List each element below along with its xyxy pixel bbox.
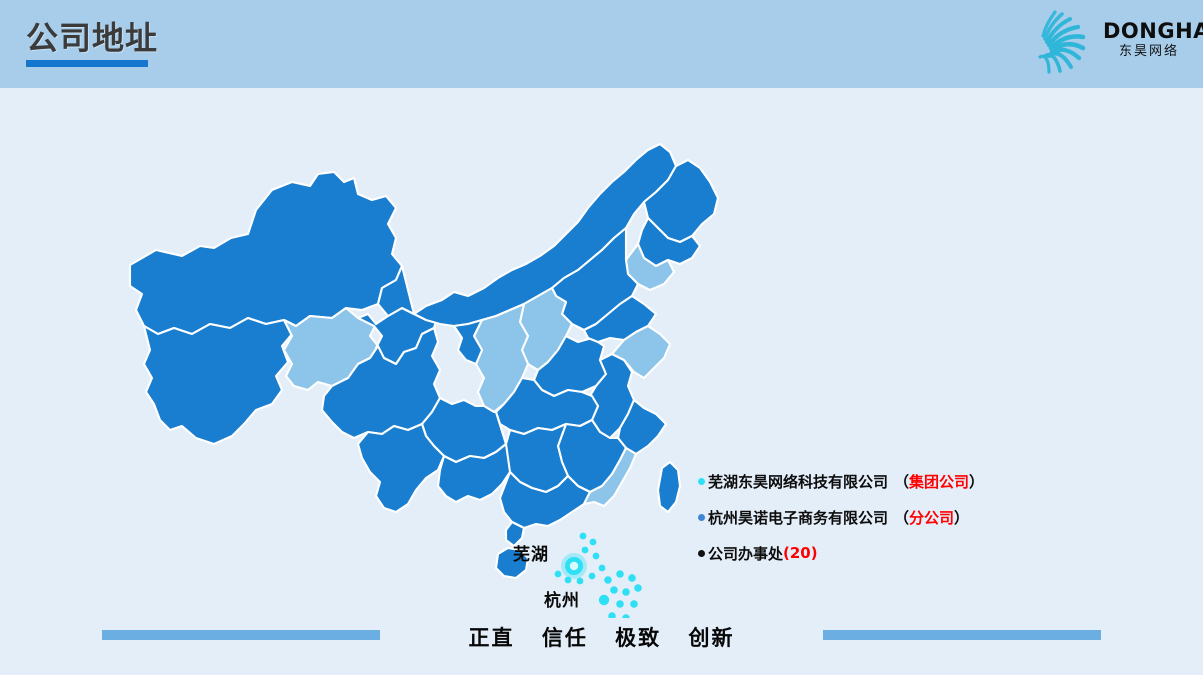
legend-item-note: (20) [783,544,818,562]
brand-name-en: DONGHAO [1103,20,1195,43]
brand-name-cn: 东昊网络 [1103,43,1195,61]
slogan-word: 信任 [542,626,588,650]
page-title-text: 公司地址 [26,18,158,58]
legend-item-offices: 公司办事处 (20) [698,535,998,571]
city-label-wuhu: 芜湖 [513,540,549,565]
legend-paren-close: ） [954,507,969,528]
legend-dot-icon [698,478,705,485]
slide-canvas: 公司地址 [0,0,1203,675]
legend-item-label: 公司办事处 [708,543,783,564]
legend-item-label: 芜湖东昊网络科技有限公司 [708,471,888,492]
legend-paren-open: （ [894,471,909,492]
slogan-word: 极致 [615,626,661,650]
slide-header: 公司地址 [0,0,1203,88]
feather-fan-icon [1027,8,1099,78]
legend-item-label: 杭州昊诺电子商务有限公司 [708,507,888,528]
legend-dot-icon [698,514,705,521]
china-map: 芜湖 杭州 [96,138,736,618]
brand-logo: DONGHAO 东昊网络 [1019,6,1195,76]
legend-item-branch-company: 杭州昊诺电子商务有限公司 （ 分公司 ） [698,499,998,535]
slogan-word: 正直 [469,626,515,650]
slogan-word: 创新 [688,626,734,650]
legend-dot-icon [698,550,705,557]
legend-paren-open: （ [894,507,909,528]
legend-paren-close: ） [969,471,984,492]
title-underline [26,60,148,67]
footer-slogan: 正直 信任 极致 创新 [0,622,1203,652]
legend-item-group-company: 芜湖东昊网络科技有限公司 （ 集团公司 ） [698,463,998,499]
city-label-hangzhou: 杭州 [544,586,580,611]
map-legend: 芜湖东昊网络科技有限公司 （ 集团公司 ） 杭州昊诺电子商务有限公司 （ 分公司… [698,463,998,571]
page-title: 公司地址 [26,18,158,67]
brand-logo-text: DONGHAO 东昊网络 [1103,20,1195,61]
legend-item-note: 集团公司 [909,471,969,492]
legend-item-note: 分公司 [909,507,954,528]
